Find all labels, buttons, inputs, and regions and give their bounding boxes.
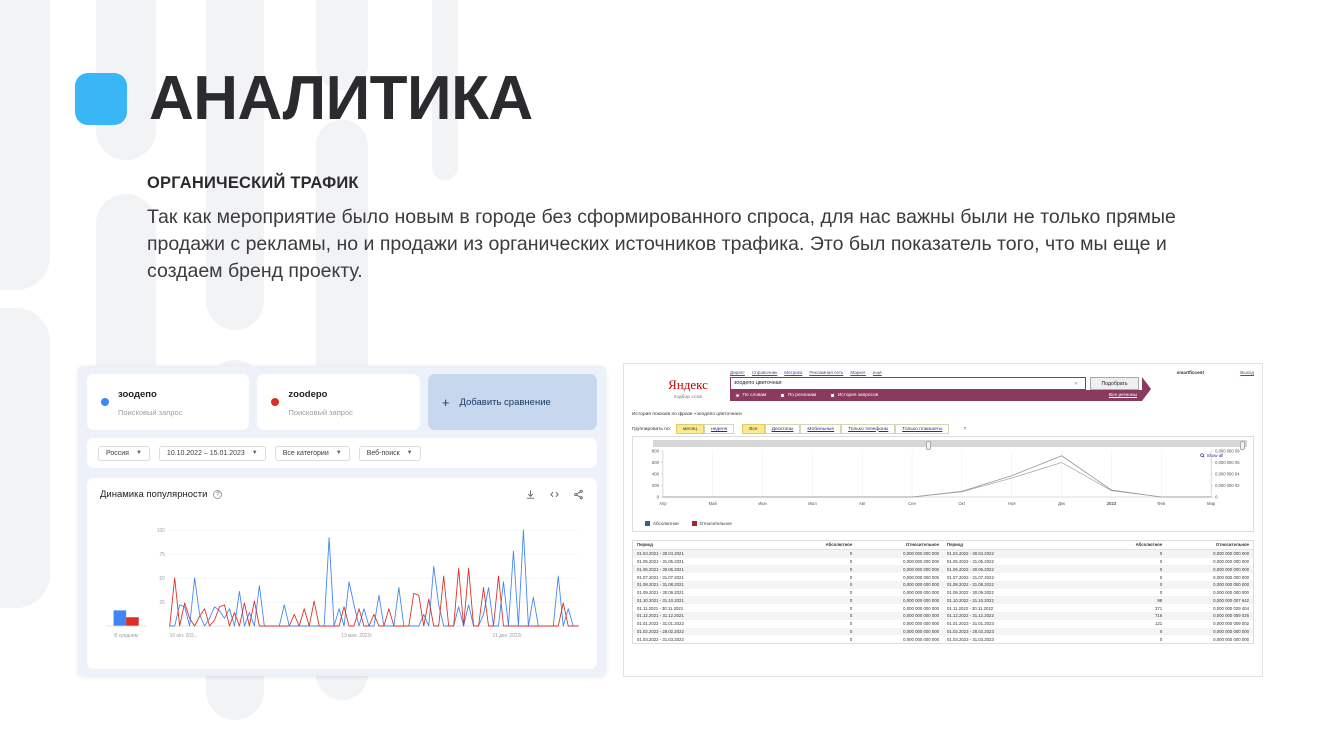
cell-period: 01.11.2022 - 30.11.2022: [943, 604, 1098, 612]
cell-relative: 0,000 000 000 000: [856, 628, 943, 636]
radio-label: По регионам: [788, 393, 817, 398]
table-body: 01.04.2021 - 30.04.202100,000 000 000 00…: [633, 549, 943, 643]
yandex-wordstat-logo[interactable]: Яндекс подбор слов: [656, 378, 720, 399]
cell-period: 01.04.2022 - 30.04.2022: [943, 549, 1098, 557]
cell-period: 01.12.2021 - 31.12.2021: [633, 612, 788, 620]
table-row: 01.03.2022 - 31.03.202200,000 000 000 00…: [633, 635, 943, 643]
cell-relative: 0,000 000 000 000: [856, 635, 943, 643]
cell-period: 01.09.2021 - 30.09.2021: [633, 589, 788, 597]
cell-period: 01.07.2022 - 31.07.2022: [943, 573, 1098, 581]
legend-swatch: [692, 521, 697, 526]
question-circle-icon[interactable]: ?: [213, 490, 222, 499]
table-body: 01.04.2022 - 30.04.202200,000 000 000 00…: [943, 549, 1253, 643]
cell-absolute: 98: [1098, 596, 1166, 604]
device-tab-mobile[interactable]: Мобильные: [800, 424, 841, 434]
col-period: Период: [943, 541, 1098, 549]
plus-icon: +: [442, 396, 450, 409]
cell-absolute: 0: [788, 549, 856, 557]
filter-category[interactable]: Все категории ▼: [275, 446, 350, 461]
wordstat-chart-legend: Абсолютное Относительное: [645, 521, 732, 526]
page-title: АНАЛИТИКА: [149, 68, 533, 130]
cell-absolute: 0: [788, 573, 856, 581]
logout-link[interactable]: Выход: [1240, 370, 1254, 375]
slide-title-row: АНАЛИТИКА: [75, 68, 533, 130]
wordstat-mode-radios: По словам По регионам История запросов В…: [730, 390, 1142, 401]
cell-absolute: 716: [1098, 612, 1166, 620]
table-row: 01.05.2022 - 31.05.202200,000 000 000 00…: [943, 558, 1253, 566]
radio-label: История запросов: [838, 393, 878, 398]
svg-text:21 дек. 2022г.: 21 дек. 2022г.: [492, 633, 522, 639]
chevron-down-icon: ▼: [407, 450, 413, 456]
radio-label: По словам: [743, 393, 767, 398]
cell-relative: 0,000 000 000 000: [856, 581, 943, 589]
col-period: Период: [633, 541, 788, 549]
cell-absolute: 0: [788, 589, 856, 597]
col-relative: Относительное: [1166, 541, 1253, 549]
nav-item-metrika[interactable]: Метрика: [784, 370, 802, 375]
wordstat-search-area: зоодепо цветочная ✕ Подобрать По словам …: [730, 377, 1142, 402]
svg-text:Авг: Авг: [859, 501, 866, 506]
filter-label: Веб-поиск: [367, 450, 400, 457]
table-row: 01.06.2021 - 30.06.202100,000 000 000 00…: [633, 565, 943, 573]
legend-label: Относительное: [700, 521, 732, 526]
help-question-icon[interactable]: ?: [963, 427, 966, 432]
table-row: 01.11.2022 - 30.11.20223710,000 000 029 …: [943, 604, 1253, 612]
svg-text:Мар: Мар: [1207, 501, 1216, 506]
cell-absolute: 0: [1098, 589, 1166, 597]
table-row: 01.08.2021 - 31.08.202100,000 000 000 00…: [633, 581, 943, 589]
cell-absolute: 0: [1098, 581, 1166, 589]
cell-absolute: 0: [788, 612, 856, 620]
cell-absolute: 0: [788, 620, 856, 628]
svg-text:Июл: Июл: [808, 501, 817, 506]
cell-period: 01.01.2022 - 31.01.2022: [633, 620, 788, 628]
filter-label: Россия: [106, 450, 129, 457]
svg-text:100: 100: [157, 528, 165, 534]
table-row: 01.01.2023 - 31.01.20231210,000 000 009 …: [943, 620, 1253, 628]
cell-relative: 0,000 000 000 000: [1166, 573, 1253, 581]
table-row: 01.01.2022 - 31.01.202200,000 000 000 00…: [633, 620, 943, 628]
wordstat-top-nav: Директ Справочник Метрика Рекламная сеть…: [730, 370, 882, 375]
cell-absolute: 0: [788, 604, 856, 612]
col-relative: Относительное: [856, 541, 943, 549]
cell-relative: 0,000 000 009 002: [1166, 620, 1253, 628]
nav-item-spravochnik[interactable]: Справочник: [752, 370, 777, 375]
filter-region[interactable]: Россия ▼: [98, 446, 150, 461]
legend-item-absolute: Абсолютное: [645, 521, 679, 526]
wordstat-table-left: Период Абсолютное Относительное 01.04.20…: [633, 541, 943, 643]
svg-text:10 окт. 202...: 10 окт. 202...: [170, 633, 198, 639]
svg-text:13 мая. 2022г.: 13 мая. 2022г.: [341, 633, 372, 639]
cell-absolute: 0: [1098, 565, 1166, 573]
svg-text:200: 200: [652, 483, 660, 488]
cell-period: 01.08.2021 - 31.08.2021: [633, 581, 788, 589]
legend-label: Абсолютное: [653, 521, 679, 526]
svg-text:Ноя: Ноя: [1008, 501, 1016, 506]
cell-relative: 0,000 000 007 642: [1166, 596, 1253, 604]
cell-relative: 0,000 000 000 000: [856, 573, 943, 581]
cell-relative: 0,000 000 000 000: [1166, 589, 1253, 597]
group-tab-month[interactable]: месяц: [676, 424, 704, 434]
section-subheading: ОРГАНИЧЕСКИЙ ТРАФИК: [147, 174, 359, 193]
trends-filter-bar: Россия ▼ 10.10.2022 – 15.01.2023 ▼ Все к…: [87, 438, 597, 468]
cell-period: 01.05.2021 - 31.05.2021: [633, 558, 788, 566]
table-row: 01.09.2021 - 30.09.202100,000 000 000 00…: [633, 589, 943, 597]
nav-item-more[interactable]: ещё: [873, 370, 882, 375]
embed-code-icon[interactable]: [549, 489, 560, 500]
svg-text:2023: 2023: [1107, 501, 1117, 506]
wordstat-grouping-bar: Группировать по: месяц неделя Все Дескто…: [632, 424, 966, 434]
search-input[interactable]: зоодепо цветочная: [730, 377, 1086, 390]
device-tab-tablets[interactable]: Только планшеты: [895, 424, 949, 434]
cell-period: 01.03.2022 - 31.03.2022: [633, 635, 788, 643]
grouping-label: Группировать по:: [632, 427, 671, 432]
trends-chart-title: Динамика популярности: [100, 489, 207, 500]
svg-text:25: 25: [159, 600, 165, 606]
chevron-down-icon: ▼: [336, 450, 342, 456]
wordstat-table-right: Период Абсолютное Относительное 01.04.20…: [943, 541, 1253, 643]
series-color-dot: [271, 398, 279, 406]
svg-text:50: 50: [159, 576, 165, 582]
cell-relative: 0,000 000 000 000: [856, 558, 943, 566]
table-row: 01.11.2021 - 30.11.202100,000 000 000 00…: [633, 604, 943, 612]
radio-by-regions[interactable]: По регионам: [780, 393, 816, 398]
svg-text:Июн: Июн: [758, 501, 767, 506]
cell-absolute: 0: [1098, 549, 1166, 557]
trends-term-card[interactable]: zoodepo Поисковый запрос: [257, 374, 419, 430]
cell-absolute: 121: [1098, 620, 1166, 628]
search-submit-button[interactable]: Подобрать: [1090, 377, 1139, 390]
cell-relative: 0,000 000 000 000: [1166, 565, 1253, 573]
cell-period: 01.06.2021 - 30.06.2021: [633, 565, 788, 573]
cell-absolute: 0: [1098, 628, 1166, 636]
nav-item-market[interactable]: Маркет: [850, 370, 866, 375]
cell-relative: 0,000 000 000 000: [856, 620, 943, 628]
section-body-text: Так как мероприятие было новым в городе …: [147, 204, 1237, 285]
svg-text:Дек: Дек: [1058, 501, 1065, 506]
cell-period: 01.02.2022 - 28.02.2022: [633, 628, 788, 636]
device-tab-all[interactable]: Все: [742, 424, 764, 434]
nav-item-direct[interactable]: Директ: [730, 370, 745, 375]
cell-period: 01.05.2022 - 31.05.2022: [943, 558, 1098, 566]
radio-query-history[interactable]: История запросов: [830, 393, 878, 398]
cell-relative: 0,000 000 000 000: [1166, 628, 1253, 636]
yandex-logo-subtitle: подбор слов: [656, 394, 720, 399]
cell-relative: 0,000 000 000 000: [1166, 549, 1253, 557]
trends-popularity-chart: 25507510010 окт. 202...13 мая. 2022г.21 …: [100, 518, 584, 650]
cell-relative: 0,000 000 000 000: [856, 589, 943, 597]
table-row: 01.04.2021 - 30.04.202100,000 000 000 00…: [633, 549, 943, 557]
yandex-logo-text: Яндекс: [656, 378, 720, 391]
cell-relative: 0,000 000 000 000: [1166, 635, 1253, 643]
cell-relative: 0,000 000 000 000: [856, 565, 943, 573]
all-regions-link[interactable]: Все регионы: [1109, 393, 1137, 398]
cell-period: 01.11.2021 - 30.11.2021: [633, 604, 788, 612]
filter-label: Все категории: [283, 450, 329, 457]
download-icon[interactable]: [525, 489, 536, 500]
cell-period: 01.04.2021 - 30.04.2021: [633, 549, 788, 557]
cell-period: 01.07.2021 - 31.07.2021: [633, 573, 788, 581]
cell-absolute: 0: [788, 628, 856, 636]
wordstat-phrase-line: История показов по фразе «зоодепо цветоч…: [632, 412, 742, 417]
cell-relative: 0,000 000 000 000: [1166, 581, 1253, 589]
cell-relative: 0,000 000 059 026: [1166, 612, 1253, 620]
chevron-down-icon: ▼: [136, 450, 142, 456]
svg-text:Май: Май: [709, 501, 718, 506]
table-row: 01.06.2022 - 30.06.202200,000 000 000 00…: [943, 565, 1253, 573]
cell-period: 01.03.2023 - 31.03.2023: [943, 635, 1098, 643]
svg-text:Апр: Апр: [659, 501, 667, 506]
cell-absolute: 0: [788, 635, 856, 643]
cell-relative: 0,000 000 000 000: [1166, 558, 1253, 566]
cell-relative: 0,000 000 000 000: [856, 549, 943, 557]
add-comparison-button[interactable]: + Добавить сравнение: [428, 374, 597, 430]
table-row: 01.10.2022 - 31.10.2022980,000 000 007 6…: [943, 596, 1253, 604]
wordstat-data-tables: Период Абсолютное Относительное 01.04.20…: [632, 540, 1254, 644]
wordstat-history-chart: АпрМайИюнИюлАвгСенОктНояДек2023ФевМар020…: [633, 447, 1253, 513]
yandex-wordstat-screenshot: Директ Справочник Метрика Рекламная сеть…: [624, 364, 1262, 676]
trends-chart-card: Динамика популярности ? 25507510010: [87, 478, 597, 669]
accent-square-icon: [75, 73, 127, 125]
svg-text:0: 0: [1215, 495, 1218, 500]
wordstat-chart-panel: Show all АпрМайИюнИюлАвгСенОктНояДек2023…: [632, 436, 1254, 532]
svg-text:Окт: Окт: [958, 501, 965, 506]
filter-search-type[interactable]: Веб-поиск ▼: [359, 446, 421, 461]
cell-relative: 0,000 000 029 404: [1166, 604, 1253, 612]
svg-text:800: 800: [652, 449, 660, 454]
clear-icon[interactable]: ✕: [1074, 381, 1078, 387]
device-tab-phones[interactable]: Только телефоны: [841, 424, 895, 434]
cell-period: 01.10.2022 - 31.10.2022: [943, 596, 1098, 604]
svg-text:75: 75: [159, 552, 165, 558]
cell-absolute: 0: [788, 565, 856, 573]
table-row: 01.02.2023 - 28.02.202300,000 000 000 00…: [943, 628, 1253, 636]
group-tab-week[interactable]: неделя: [704, 424, 734, 434]
svg-text:0,000 000 08: 0,000 000 08: [1215, 449, 1240, 454]
table-row: 01.07.2021 - 31.07.202100,000 000 000 00…: [633, 573, 943, 581]
col-absolute: Абсолютное: [788, 541, 856, 549]
cell-period: 01.01.2023 - 31.01.2023: [943, 620, 1098, 628]
col-absolute: Абсолютное: [1098, 541, 1166, 549]
trends-term-name: zoodepo: [288, 389, 327, 400]
cell-relative: 0,000 000 000 000: [856, 596, 943, 604]
table-row: 01.12.2021 - 31.12.202100,000 000 000 00…: [633, 612, 943, 620]
svg-text:0,000 000 02: 0,000 000 02: [1215, 483, 1240, 488]
trends-term-type: Поисковый запрос: [288, 408, 352, 417]
cell-relative: 0,000 000 000 000: [856, 612, 943, 620]
cell-period: 01.09.2022 - 30.09.2022: [943, 589, 1098, 597]
add-comparison-label: Добавить сравнение: [459, 397, 550, 408]
cell-period: 01.08.2022 - 31.08.2022: [943, 581, 1098, 589]
table-row: 01.05.2021 - 31.05.202100,000 000 000 00…: [633, 558, 943, 566]
table-row: 01.10.2021 - 31.10.202100,000 000 000 00…: [633, 596, 943, 604]
table-row: 01.04.2022 - 30.04.202200,000 000 000 00…: [943, 549, 1253, 557]
svg-text:600: 600: [652, 460, 660, 465]
trends-term-card[interactable]: зоодепо Поисковый запрос: [87, 374, 249, 430]
table-row: 01.02.2022 - 28.02.202200,000 000 000 00…: [633, 628, 943, 636]
radio-dot-icon: [830, 393, 835, 398]
radio-by-words[interactable]: По словам: [735, 393, 766, 398]
table-row: 01.09.2022 - 30.09.202200,000 000 000 00…: [943, 589, 1253, 597]
cell-period: 01.10.2021 - 31.10.2021: [633, 596, 788, 604]
nav-item-ad-network[interactable]: Рекламная сеть: [809, 370, 843, 375]
table-row: 01.03.2023 - 31.03.202300,000 000 000 00…: [943, 635, 1253, 643]
svg-text:400: 400: [652, 472, 660, 477]
svg-text:0,000 000 06: 0,000 000 06: [1215, 460, 1240, 465]
filter-label: 10.10.2022 – 15.01.2023: [167, 450, 245, 457]
search-bar-arrow: [1142, 377, 1151, 401]
radio-dot-icon: [735, 393, 740, 398]
cell-absolute: 0: [788, 596, 856, 604]
chevron-down-icon: ▼: [252, 450, 258, 456]
share-icon[interactable]: [573, 489, 584, 500]
account-name[interactable]: smartficcent: [1177, 370, 1204, 375]
svg-text:0: 0: [657, 495, 660, 500]
svg-text:В среднем: В среднем: [114, 633, 138, 639]
cell-absolute: 0: [788, 558, 856, 566]
table-row: 01.07.2022 - 31.07.202200,000 000 000 00…: [943, 573, 1253, 581]
chart-range-scrollbar[interactable]: [653, 440, 1247, 447]
svg-text:Фев: Фев: [1157, 501, 1165, 506]
legend-item-relative: Относительное: [692, 521, 732, 526]
cell-absolute: 371: [1098, 604, 1166, 612]
series-color-dot: [101, 398, 109, 406]
cell-absolute: 0: [1098, 558, 1166, 566]
cell-period: 01.02.2023 - 28.02.2023: [943, 628, 1098, 636]
trends-chart-title-row: Динамика популярности ?: [100, 489, 222, 500]
trends-terms-bar: зоодепо Поисковый запрос zoodepo Поисков…: [78, 366, 606, 430]
filter-date-range[interactable]: 10.10.2022 – 15.01.2023 ▼: [159, 446, 266, 461]
table-row: 01.08.2022 - 31.08.202200,000 000 000 00…: [943, 581, 1253, 589]
legend-swatch: [645, 521, 650, 526]
cell-period: 01.12.2022 - 31.12.2022: [943, 612, 1098, 620]
trends-term-type: Поисковый запрос: [118, 408, 182, 417]
svg-text:0,000 000 04: 0,000 000 04: [1215, 472, 1240, 477]
cell-absolute: 0: [788, 581, 856, 589]
trends-term-name: зоодепо: [118, 389, 157, 400]
cell-relative: 0,000 000 000 000: [856, 604, 943, 612]
table-row: 01.12.2022 - 31.12.20227160,000 000 059 …: [943, 612, 1253, 620]
svg-text:Сен: Сен: [908, 501, 916, 506]
cell-absolute: 0: [1098, 635, 1166, 643]
cell-absolute: 0: [1098, 573, 1166, 581]
cell-period: 01.06.2022 - 30.06.2022: [943, 565, 1098, 573]
device-tab-desktop[interactable]: Десктопы: [765, 424, 801, 434]
google-trends-screenshot: зоодепо Поисковый запрос zoodepo Поисков…: [78, 366, 606, 676]
radio-dot-icon: [780, 393, 785, 398]
